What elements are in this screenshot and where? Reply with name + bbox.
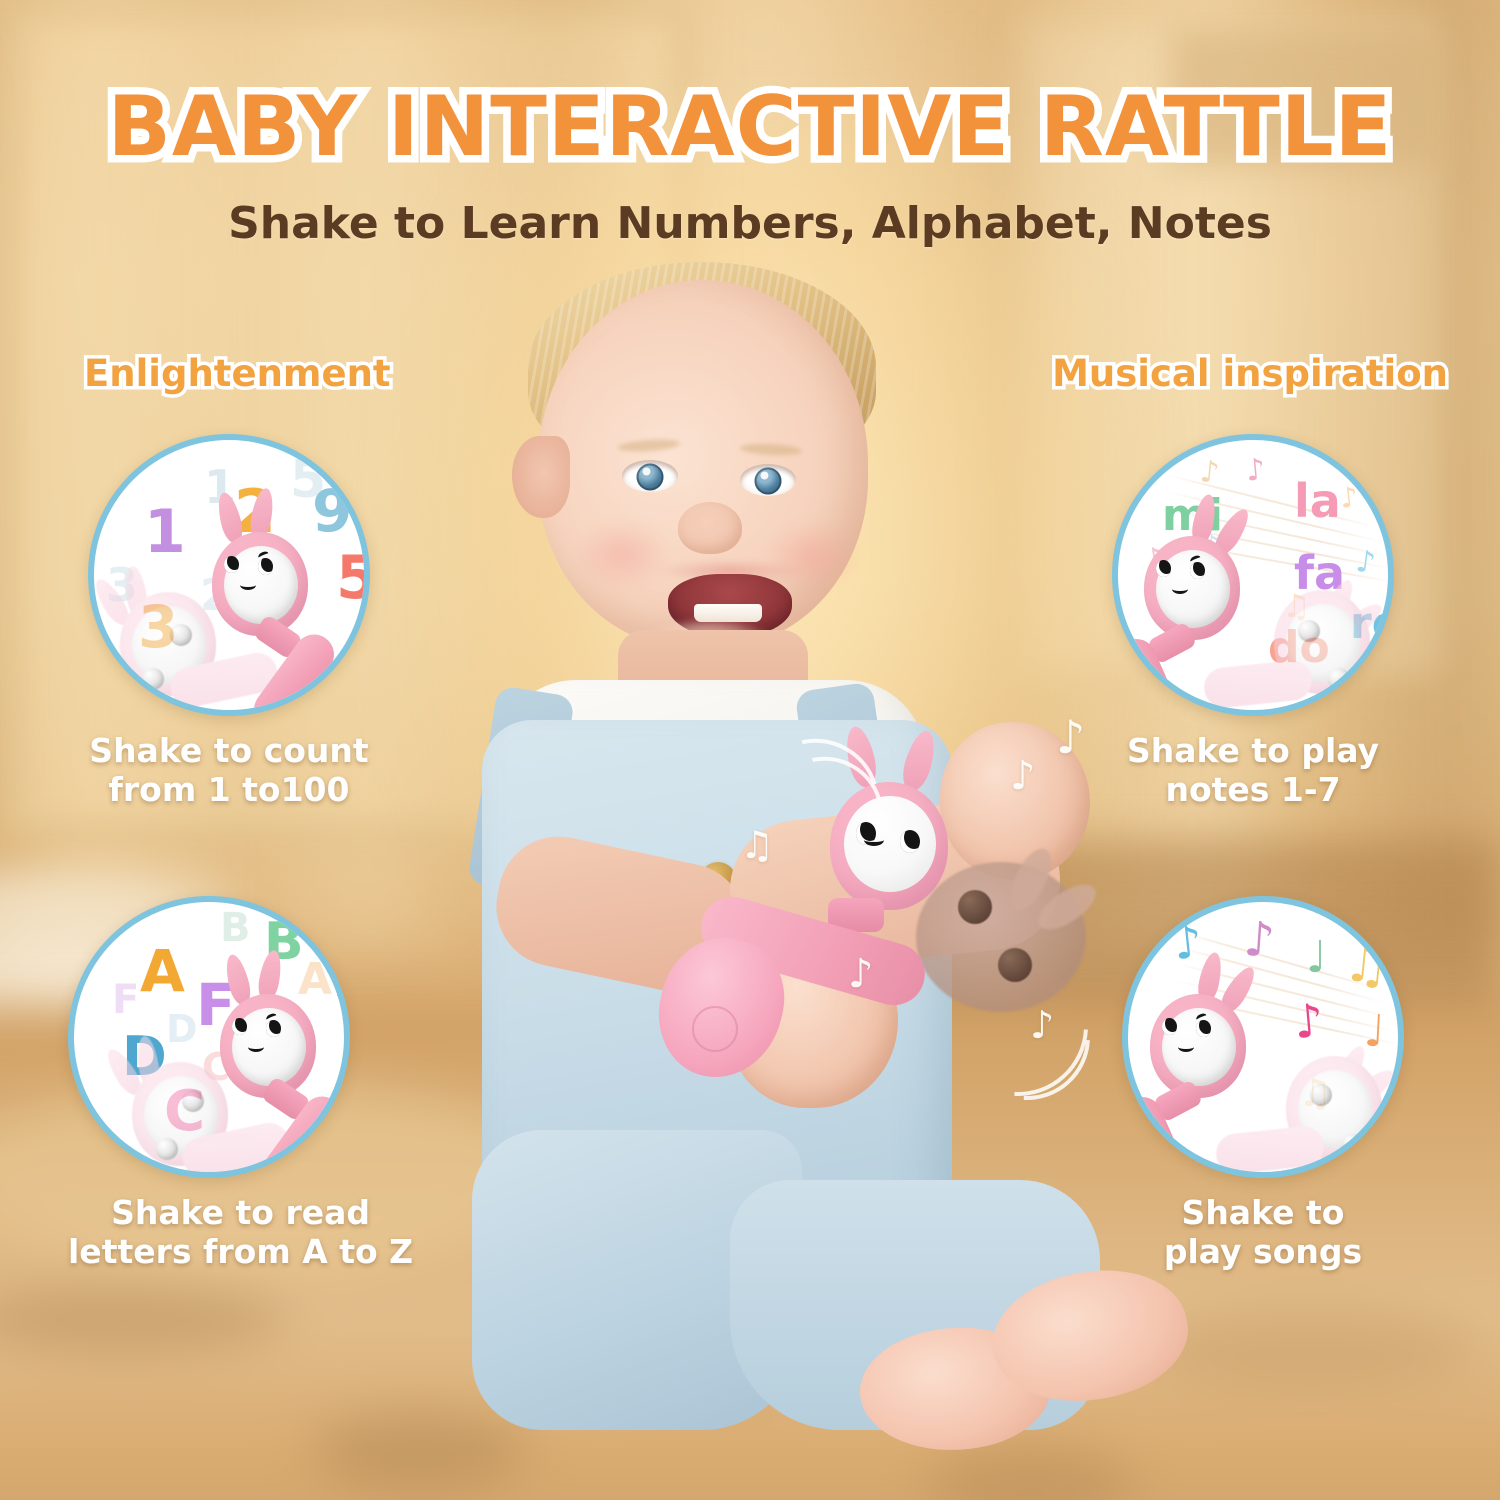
letters-glyph-0: B [220, 908, 251, 948]
notes-glyph-6: ♪ [1198, 457, 1220, 489]
feature-card-notes: milafaredo♪♪♪♪♪♫♪ Shake to play notes 1-… [1112, 434, 1394, 810]
rattle-power-button [692, 1006, 738, 1052]
notes-glyph-7: ♪ [1245, 455, 1267, 487]
music-note-white-5: ♪ [1030, 1006, 1054, 1044]
rattle-toy-main: ♫ ♪ ♪ ♪ ♪ [820, 770, 1080, 1090]
feature-caption-notes: Shake to play notes 1-7 [1112, 732, 1394, 810]
music-note-white-4: ♪ [848, 954, 874, 994]
feature-caption-songs: Shake to play songs [1122, 1194, 1404, 1272]
notes-glyph-9: ♪ [1339, 483, 1360, 513]
baby-eye-left [622, 460, 678, 492]
music-note-white-3: ♪ [1056, 714, 1085, 760]
feature-caption-numbers: Shake to count from 1 to100 [88, 732, 370, 810]
feature-circle-notes: milafaredo♪♪♪♪♪♫♪ [1112, 434, 1394, 716]
feature-card-numbers: 152913235 Shake to count from 1 to100 [88, 434, 370, 810]
letters-glyph-5: F [112, 980, 139, 1020]
feature-circle-numbers: 152913235 [88, 434, 370, 716]
baby-eye-right [740, 464, 796, 496]
letters-glyph-7: D [166, 1010, 198, 1048]
section-heading-enlightenment: Enlightenment [84, 352, 391, 395]
rattle-eye-right [900, 830, 920, 853]
songs-glyph-4: ♪ [1292, 997, 1325, 1045]
numbers-glyph-8: 5 [336, 548, 370, 608]
rattle-blur-eye-a [958, 890, 992, 924]
notes-glyph-1: la [1294, 478, 1341, 524]
numbers-glyph-3: 9 [312, 482, 352, 540]
songs-glyph-5: ♩ [1363, 1009, 1386, 1054]
music-note-white-1: ♫ [740, 826, 774, 864]
feature-caption-letters: Shake to read letters from A to Z [68, 1194, 413, 1272]
feature-card-letters: BBAAEFFDEDCC Shake to read letters from … [68, 896, 413, 1272]
songs-glyph-2: ♩ [1306, 936, 1327, 980]
music-note-white-2: ♪ [1010, 756, 1036, 796]
page-title: BABY INTERACTIVE RATTLE [0, 78, 1500, 175]
page-subtitle: Shake to Learn Numbers, Alphabet, Notes [0, 198, 1500, 249]
baby-cheek-right [766, 522, 858, 590]
songs-glyph-0: ♪ [1172, 921, 1205, 968]
feature-circle-letters: BBAAEFFDEDCC [68, 896, 350, 1178]
letters-glyph-2: A [140, 942, 185, 1000]
baby-nose [678, 502, 742, 554]
songs-glyph-3: ♫ [1342, 938, 1392, 992]
baby-cheek-left [576, 520, 668, 588]
feature-card-songs: ♪♪♩♫♪♩♫ Shake to play songs [1122, 896, 1404, 1272]
section-heading-musical-inspiration: Musical inspiration [1052, 352, 1448, 395]
letters-glyph-3: A [298, 958, 332, 1002]
baby-ear [512, 436, 570, 518]
feature-circle-songs: ♪♪♩♫♪♩♫ [1122, 896, 1404, 1178]
numbers-glyph-4: 1 [144, 502, 186, 562]
letters-glyph-4: E [332, 950, 350, 1006]
songs-glyph-1: ♪ [1242, 915, 1276, 965]
